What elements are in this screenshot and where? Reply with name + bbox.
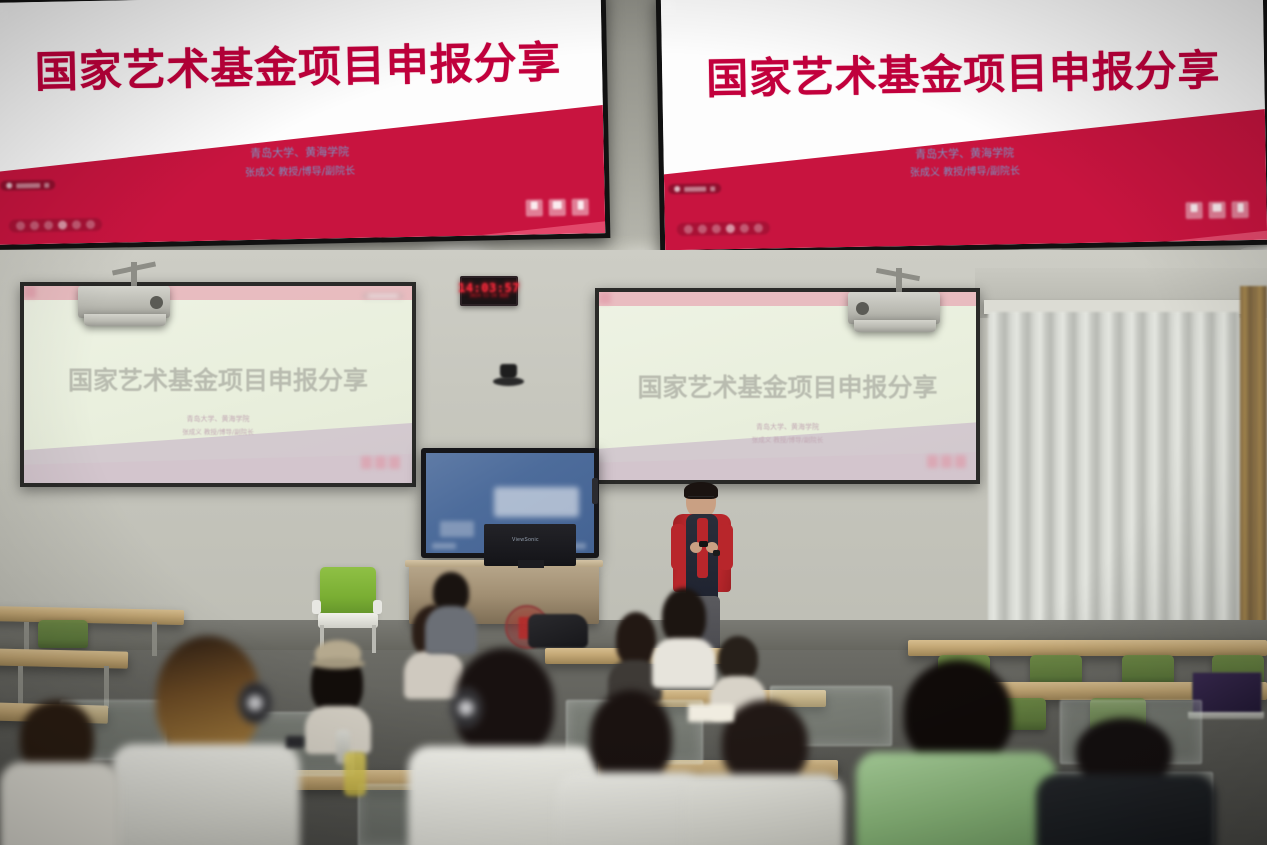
projection-sponsor-logo-row <box>927 455 966 468</box>
projection-subtitle-line2: 张成义 教授/博导/副院长 <box>24 426 412 436</box>
projection-subtitle-line1: 青岛大学、黄海学院 <box>599 422 976 432</box>
sponsor-logo-row <box>526 198 589 216</box>
projector-body-lower-left <box>84 314 166 326</box>
presenter-right-arm <box>718 524 733 570</box>
audience-hair <box>722 700 808 784</box>
projection-title: 国家艺术基金项目申报分享 <box>599 368 976 404</box>
zoom-icon[interactable] <box>740 224 749 233</box>
window-curtain[interactable] <box>988 312 1240 660</box>
projection-title: 国家艺术基金项目申报分享 <box>24 361 412 397</box>
record-dot-icon <box>6 183 12 189</box>
record-dot-icon <box>674 186 680 192</box>
notebook-on-desk[interactable] <box>688 704 734 722</box>
projection-sponsor-logo <box>361 456 372 469</box>
projection-sponsor-logo <box>941 455 952 468</box>
projection-subtitle-line1: 青岛大学、黄海学院 <box>24 414 412 424</box>
audience-hair <box>590 690 672 782</box>
sponsor-logo-mark <box>0 5 4 13</box>
audience-torso <box>425 606 477 654</box>
phone-on-desk[interactable] <box>286 736 304 748</box>
monitor-dialog-window <box>494 487 579 517</box>
front-accent-chair-seat <box>318 613 378 628</box>
pointer-icon[interactable] <box>712 224 721 233</box>
sponsor-logo <box>572 198 589 215</box>
prev-slide-icon[interactable] <box>684 225 693 234</box>
audience-member-far-left <box>0 700 120 845</box>
chair-armrest <box>312 600 321 614</box>
audience-member-front-far-right <box>1036 718 1216 845</box>
audience-torso <box>1036 774 1216 845</box>
audience-torso <box>684 774 844 845</box>
classroom-chair[interactable] <box>38 620 88 648</box>
slide-canvas-right: 国家艺术基金项目申报分享 青岛大学、黄海学院 张成义 教授/博导/副院长 <box>661 0 1267 250</box>
projection-sponsor-logo <box>389 456 400 469</box>
presenter-view-badge[interactable] <box>668 183 721 194</box>
left-lcd-screen: 国家艺术基金项目申报分享 青岛大学、黄海学院 张成义 教授/博导/副院长 <box>0 0 605 245</box>
led-wall-clock: 14:03:57 2024-11-28 周四 <box>460 276 518 306</box>
wood-slat-wall <box>1240 286 1267 676</box>
monitor-brand-label: ViewSonic <box>512 537 539 543</box>
pen-tool-icon[interactable] <box>30 221 39 230</box>
sponsor-logo <box>1208 201 1225 218</box>
pointer-icon[interactable] <box>44 221 53 230</box>
presentation-clicker[interactable] <box>699 541 708 547</box>
projection-sponsor-logo <box>955 455 966 468</box>
sponsor-logo-mark <box>1213 204 1222 212</box>
slide-menu-icon[interactable] <box>726 224 735 233</box>
sponsor-logo-standalone <box>0 5 8 20</box>
right-lcd-screen: 国家艺术基金项目申报分享 青岛大学、黄海学院 张成义 教授/博导/副院长 <box>661 0 1267 250</box>
presenter-left-arm <box>671 524 686 570</box>
laptop-screen[interactable] <box>1192 672 1262 714</box>
projection-sponsor-logo <box>927 455 938 468</box>
ppt-control-bar[interactable] <box>9 218 102 233</box>
presenter-glasses-icon <box>688 496 714 502</box>
badge-caret-icon <box>44 182 49 187</box>
audience-member-front <box>112 636 300 845</box>
headphones-icon <box>238 682 272 724</box>
monitor-icon-chip <box>440 521 474 537</box>
projector-lens <box>150 296 163 309</box>
sponsor-logo-mark <box>665 0 672 8</box>
projection-sponsor-logo-row <box>361 456 400 469</box>
presenter-wristwatch <box>713 550 720 556</box>
sponsor-logo-standalone <box>661 0 676 15</box>
slide-menu-icon[interactable] <box>58 220 67 229</box>
audience-hair <box>662 588 706 644</box>
audience-hair <box>718 636 758 680</box>
next-slide-icon[interactable] <box>754 224 763 233</box>
desk-row-back-right <box>908 640 1267 656</box>
ceiling-camera-mount <box>493 377 524 386</box>
pen-tool-icon[interactable] <box>698 225 707 234</box>
monitor-taskbar-chip <box>432 543 456 549</box>
chair-armrest <box>373 600 382 614</box>
prev-slide-icon[interactable] <box>16 221 25 230</box>
audience-member <box>652 588 716 684</box>
sponsor-logo-row <box>1185 201 1248 219</box>
sponsor-logo-mark <box>1191 204 1198 212</box>
projection-subtitle-line2: 张成义 教授/博导/副院长 <box>599 434 976 444</box>
audience-torso <box>112 744 300 845</box>
projection-sponsor-logo <box>375 456 386 469</box>
audience-torso <box>856 752 1056 845</box>
badge-caret-icon <box>710 186 715 191</box>
clock-date: 2024-11-28 周四 <box>470 294 509 300</box>
sponsor-logo <box>549 199 566 216</box>
ppt-control-bar[interactable] <box>677 221 770 236</box>
audience-hair <box>616 612 656 666</box>
clock-time: 14:03:57 <box>458 282 520 294</box>
audience-torso <box>652 638 716 688</box>
projection-sponsor-logo <box>599 292 611 304</box>
sponsor-logo-mark <box>577 201 583 210</box>
next-slide-icon[interactable] <box>86 220 95 229</box>
badge-label-bar <box>684 186 706 191</box>
chair-leg <box>372 625 376 653</box>
sponsor-logo-mark <box>531 201 538 209</box>
presenter-view-badge[interactable] <box>0 180 55 191</box>
audience-torso <box>0 762 120 845</box>
yellow-accessory <box>344 752 366 796</box>
slide-title: 国家艺术基金项目申报分享 <box>0 27 603 101</box>
classroom-chair[interactable] <box>1122 655 1174 685</box>
podium-monitor-stand <box>518 560 544 568</box>
sponsor-logo-mark <box>553 201 562 209</box>
projection-sponsor-logo <box>24 286 36 298</box>
projector-lens <box>856 302 869 315</box>
badge-label-bar <box>16 182 40 187</box>
monitor-side-buttons[interactable] <box>592 478 598 504</box>
left-wall-lcd[interactable]: 国家艺术基金项目申报分享 青岛大学、黄海学院 张成义 教授/博导/副院长 <box>0 0 610 250</box>
audience-member-front-right <box>856 660 1056 845</box>
projector-body-lower-right <box>854 320 936 332</box>
right-wall-lcd[interactable]: 国家艺术基金项目申报分享 青岛大学、黄海学院 张成义 教授/博导/副院长 <box>656 0 1267 255</box>
headphones-icon <box>450 688 482 728</box>
projection-presenter-badge <box>362 292 404 300</box>
lecture-hall-photo: 国家艺术基金项目申报分享 青岛大学、黄海学院 张成义 教授/博导/副院长 <box>0 0 1267 845</box>
equipment-bag <box>528 614 588 648</box>
sponsor-logo <box>1185 202 1202 219</box>
audience-hair <box>904 660 1012 764</box>
front-accent-chair[interactable] <box>320 567 376 617</box>
cap-brim <box>311 658 365 669</box>
sponsor-logo <box>526 199 543 216</box>
slide-canvas-left: 国家艺术基金项目申报分享 青岛大学、黄海学院 张成义 教授/博导/副院长 <box>0 0 605 245</box>
zoom-icon[interactable] <box>72 220 81 229</box>
slide-title: 国家艺术基金项目申报分享 <box>662 36 1265 107</box>
audience-member <box>425 572 477 652</box>
sponsor-logo <box>1231 201 1248 218</box>
sponsor-logo-mark <box>1237 203 1243 212</box>
badge-label-bar <box>368 294 398 298</box>
